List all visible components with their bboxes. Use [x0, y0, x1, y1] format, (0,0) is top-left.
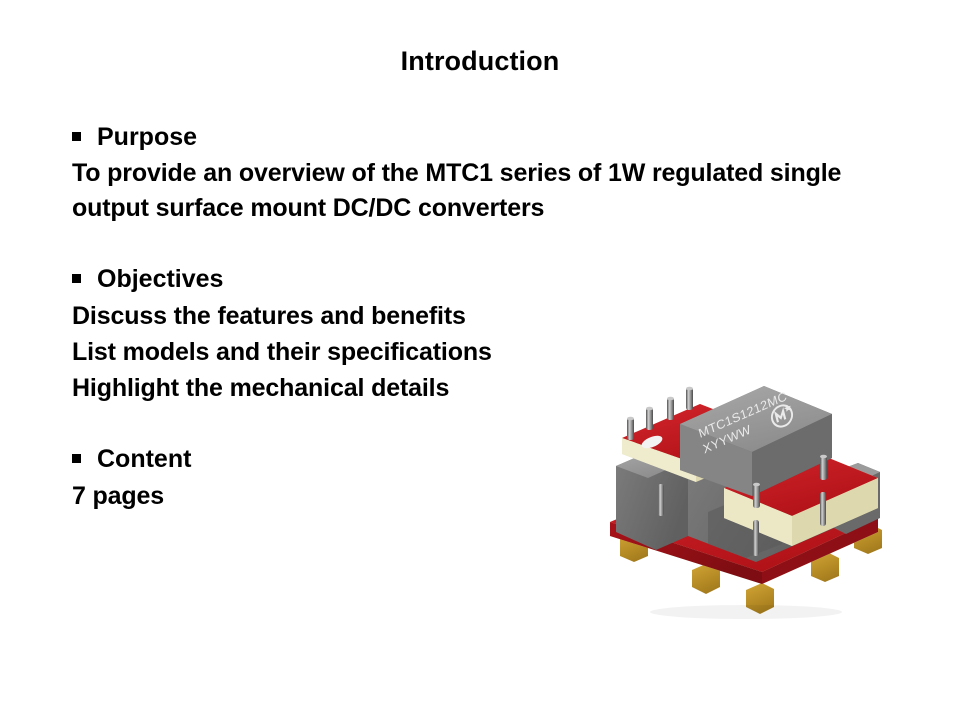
drop-shadow: [650, 605, 842, 619]
objective-line: Discuss the features and benefits: [72, 298, 932, 334]
square-bullet-icon: [72, 274, 81, 283]
purpose-paragraph: To provide an overview of the MTC1 serie…: [72, 156, 917, 226]
page-title: Introduction: [0, 46, 960, 77]
square-bullet-icon: [72, 454, 81, 463]
slide-canvas: Introduction Purpose To provide an overv…: [0, 0, 960, 720]
section-heading-label: Purpose: [97, 122, 197, 152]
square-bullet-icon: [72, 132, 81, 141]
section-purpose: Purpose To provide an overview of the MT…: [72, 122, 932, 226]
section-heading-label: Objectives: [97, 264, 223, 294]
section-heading-objectives: Objectives: [72, 264, 932, 294]
section-heading-label: Content: [97, 444, 191, 474]
product-image-dcdc-converter: MTC1S1212MC XYYWW: [596, 362, 888, 620]
section-heading-purpose: Purpose: [72, 122, 932, 152]
product-illustration: MTC1S1212MC XYYWW: [596, 362, 888, 620]
